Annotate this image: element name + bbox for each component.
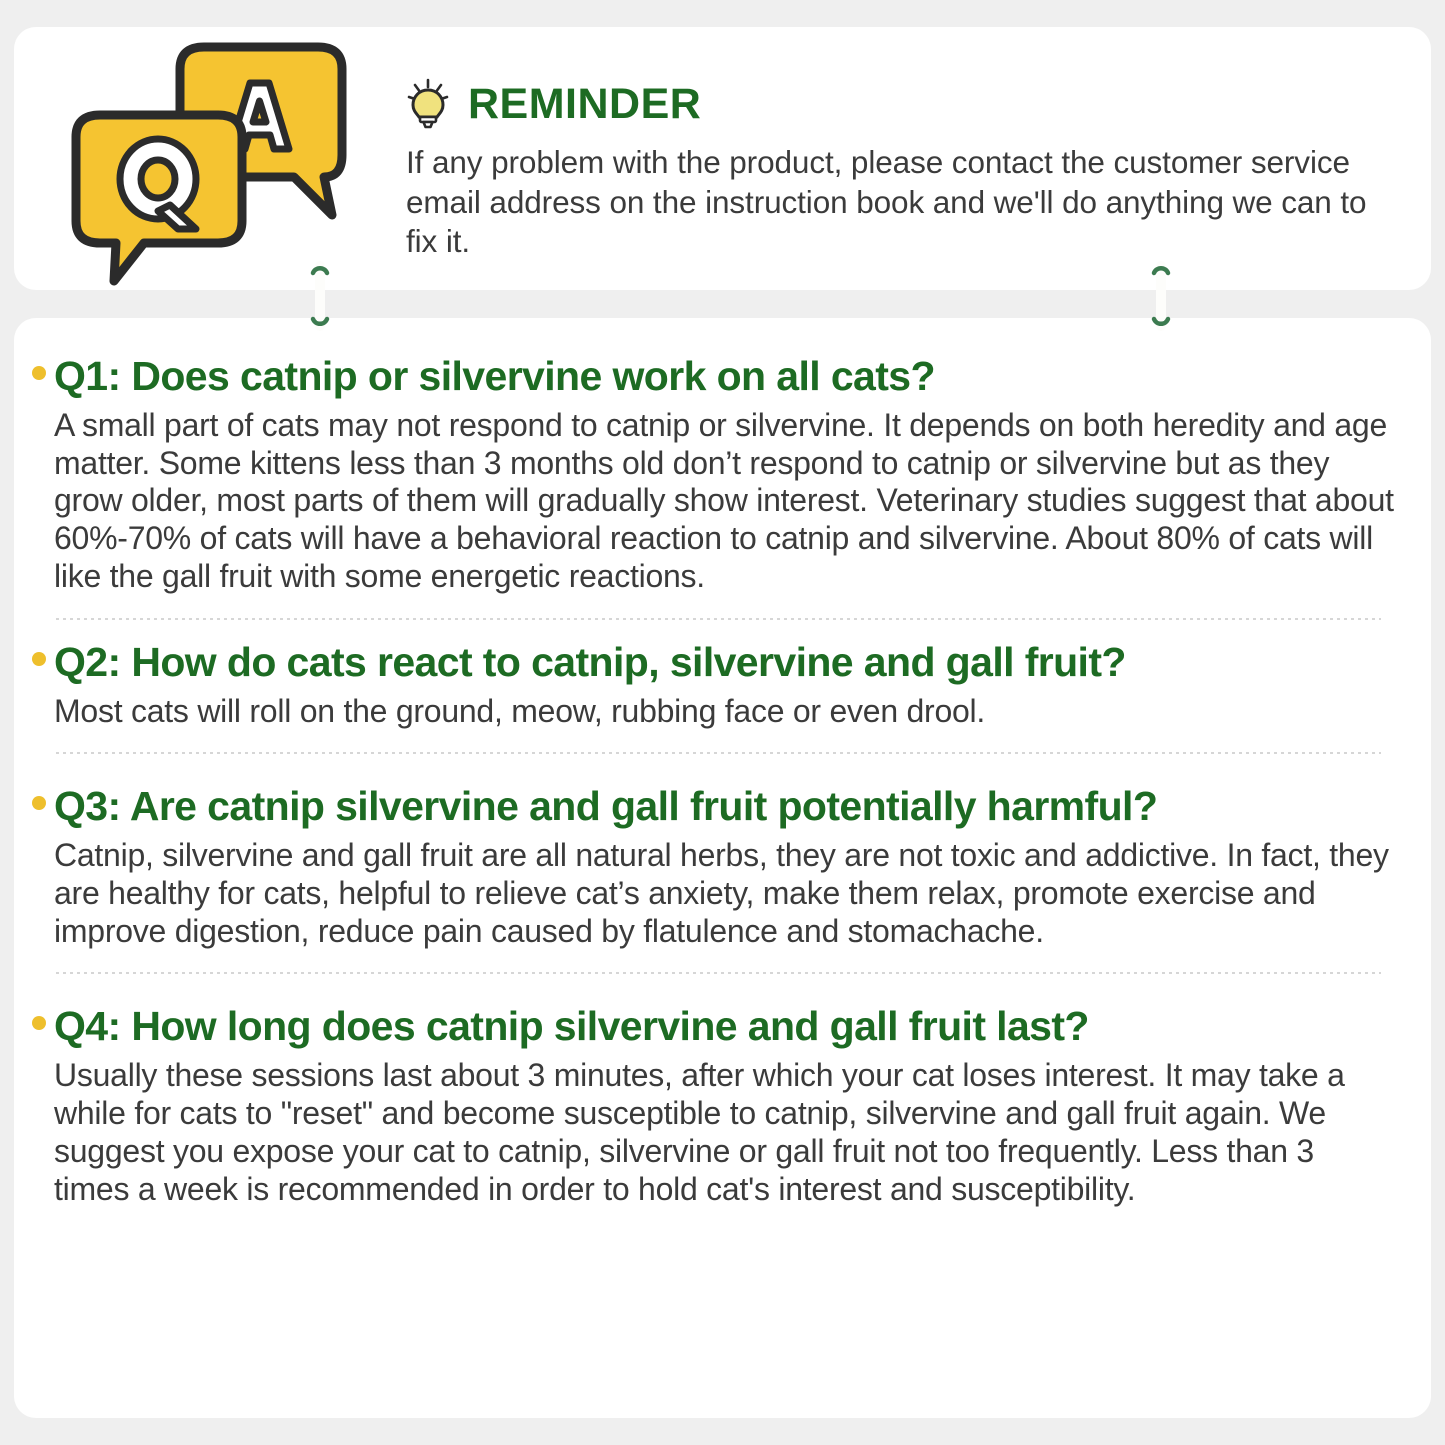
lightbulb-icon — [406, 78, 450, 130]
faq-list: Q1: Does catnip or silvervine work on al… — [32, 354, 1397, 1208]
reminder-card: REMINDER If any problem with the product… — [14, 27, 1431, 290]
faq-answer-q2: Most cats will roll on the ground, meow,… — [54, 693, 1397, 731]
dot-bullet-icon — [32, 652, 46, 666]
faq-item-q2: Q2: How do cats react to catnip, silverv… — [32, 640, 1397, 731]
dot-bullet-icon — [32, 366, 46, 380]
faq-answer-q3: Catnip, silvervine and gall fruit are al… — [54, 837, 1397, 950]
dot-bullet-icon — [32, 1016, 46, 1030]
clip-right — [1150, 255, 1172, 337]
faq-question-text: Q4: How long does catnip silvervine and … — [54, 1004, 1089, 1050]
faq-question-q3: Q3: Are catnip silvervine and gall fruit… — [32, 784, 1397, 830]
reminder-text: If any problem with the product, please … — [406, 143, 1403, 262]
faq-answer-q1: A small part of cats may not respond to … — [54, 407, 1397, 596]
clip-left — [309, 255, 331, 337]
section-divider — [56, 752, 1381, 754]
faq-card: Q1: Does catnip or silvervine work on al… — [14, 318, 1431, 1418]
faq-question-text: Q2: How do cats react to catnip, silverv… — [54, 640, 1126, 686]
faq-item-q4: Q4: How long does catnip silvervine and … — [32, 1004, 1397, 1208]
faq-item-q3: Q3: Are catnip silvervine and gall fruit… — [32, 784, 1397, 950]
reminder-title-row: REMINDER — [406, 75, 1403, 133]
reminder-title: REMINDER — [468, 83, 701, 126]
faq-question-text: Q1: Does catnip or silvervine work on al… — [54, 354, 935, 400]
faq-question-text: Q3: Are catnip silvervine and gall fruit… — [54, 784, 1157, 830]
section-divider — [56, 618, 1381, 620]
section-divider — [56, 972, 1381, 974]
faq-question-q1: Q1: Does catnip or silvervine work on al… — [32, 354, 1397, 400]
faq-question-q2: Q2: How do cats react to catnip, silverv… — [32, 640, 1397, 686]
faq-item-q1: Q1: Does catnip or silvervine work on al… — [32, 354, 1397, 596]
faq-answer-q4: Usually these sessions last about 3 minu… — [54, 1057, 1397, 1208]
dot-bullet-icon — [32, 796, 46, 810]
faq-question-q4: Q4: How long does catnip silvervine and … — [32, 1004, 1397, 1050]
reminder-body: REMINDER If any problem with the product… — [406, 75, 1403, 262]
faq-page: REMINDER If any problem with the product… — [0, 0, 1445, 1445]
